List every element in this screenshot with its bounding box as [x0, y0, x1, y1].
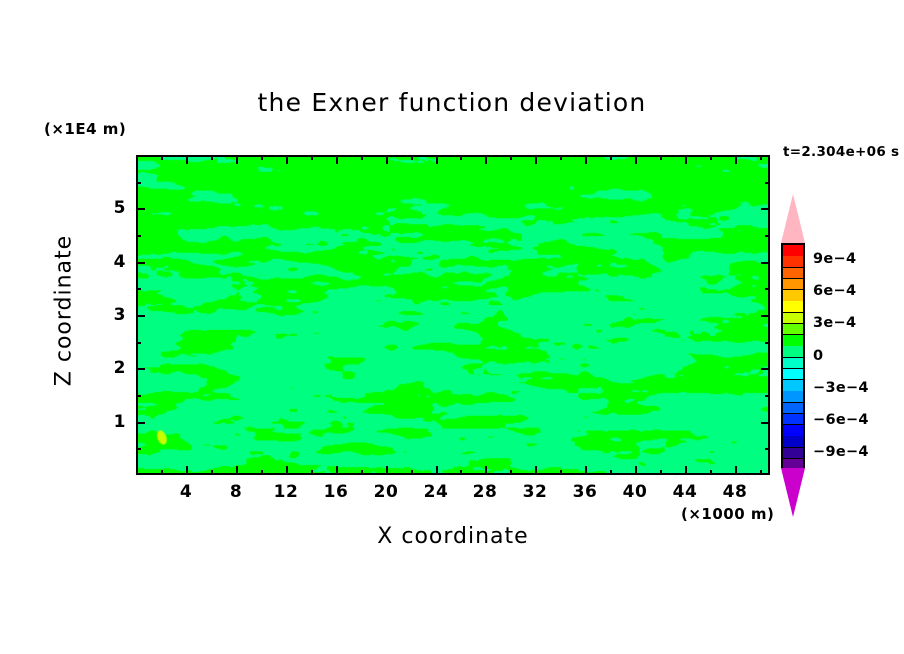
y-axis-minor-tick	[136, 448, 141, 450]
y-axis-tick	[136, 422, 145, 424]
y-axis-minor-tick	[765, 235, 770, 237]
x-axis-tick-label: 40	[623, 482, 648, 502]
x-axis-unit-label: (×1000 m)	[681, 505, 774, 523]
x-axis-minor-tick	[560, 155, 562, 160]
colorbar-band	[783, 245, 803, 257]
x-axis-minor-tick	[161, 155, 163, 160]
y-axis-minor-tick	[136, 342, 141, 344]
x-axis-tick-label: 20	[374, 482, 399, 502]
x-axis-minor-tick	[510, 470, 512, 475]
colorbar-band	[783, 335, 803, 347]
colorbar-band	[783, 358, 803, 370]
x-axis-minor-tick	[660, 470, 662, 475]
x-axis-tick	[685, 155, 687, 164]
x-axis-minor-tick	[211, 470, 213, 475]
y-axis-minor-tick	[765, 288, 770, 290]
y-axis-tick	[136, 315, 145, 317]
x-axis-tick	[386, 466, 388, 475]
y-axis-minor-tick	[765, 182, 770, 184]
x-axis-title: X coordinate	[236, 524, 670, 549]
y-axis-tick	[761, 368, 770, 370]
y-axis-tick-label: 1	[96, 412, 126, 432]
y-axis-tick	[761, 208, 770, 210]
colorbar-band	[783, 346, 803, 358]
y-axis-minor-tick	[765, 395, 770, 397]
x-axis-tick-label: 12	[274, 482, 299, 502]
x-axis-minor-tick	[211, 155, 213, 160]
colorbar-band	[783, 369, 803, 381]
colorbar-band	[783, 380, 803, 392]
y-axis-tick-label: 4	[96, 252, 126, 272]
colorbar-band	[783, 290, 803, 302]
x-axis-tick	[436, 466, 438, 475]
y-axis-tick	[761, 422, 770, 424]
x-axis-minor-tick	[510, 155, 512, 160]
x-axis-tick	[336, 466, 338, 475]
timestamp-annotation: t=2.304e+06 s	[783, 144, 899, 160]
colorbar: 9e−46e−43e−40−3e−4−6e−4−9e−4	[781, 243, 805, 468]
colorbar-band	[783, 324, 803, 336]
x-axis-tick	[485, 155, 487, 164]
x-axis-minor-tick	[760, 155, 762, 160]
colorbar-band	[783, 414, 803, 426]
x-axis-tick	[535, 155, 537, 164]
colorbar-under-arrow-icon	[781, 468, 805, 517]
x-axis-tick	[635, 155, 637, 164]
x-axis-tick	[485, 466, 487, 475]
contour-plot-area	[136, 155, 770, 475]
x-axis-minor-tick	[361, 155, 363, 160]
x-axis-tick	[236, 466, 238, 475]
y-axis-tick-label: 3	[96, 305, 126, 325]
x-axis-minor-tick	[311, 470, 313, 475]
y-axis-tick-label: 2	[96, 358, 126, 378]
x-axis-tick-label: 32	[523, 482, 548, 502]
x-axis-minor-tick	[460, 155, 462, 160]
y-axis-tick	[761, 315, 770, 317]
x-axis-minor-tick	[411, 470, 413, 475]
x-axis-minor-tick	[361, 470, 363, 475]
y-axis-tick	[136, 208, 145, 210]
colorbar-band	[783, 391, 803, 403]
colorbar-tick-label: 0	[813, 348, 823, 364]
x-axis-tick	[286, 155, 288, 164]
colorbar-band	[783, 436, 803, 448]
y-axis-minor-tick	[136, 235, 141, 237]
x-axis-minor-tick	[460, 470, 462, 475]
y-axis-minor-tick	[765, 342, 770, 344]
colorbar-band	[783, 268, 803, 280]
x-axis-minor-tick	[161, 470, 163, 475]
colorbar-band	[783, 279, 803, 291]
y-axis-minor-tick	[136, 395, 141, 397]
colorbar-band	[783, 256, 803, 268]
colorbar-tick-label: −3e−4	[813, 380, 869, 396]
colorbar-tick-label: 9e−4	[813, 251, 856, 267]
x-axis-minor-tick	[560, 470, 562, 475]
contour-field	[138, 157, 768, 473]
colorbar-tick-label: 3e−4	[813, 315, 856, 331]
y-axis-minor-tick	[136, 182, 141, 184]
x-axis-tick	[735, 466, 737, 475]
x-axis-tick	[236, 155, 238, 164]
y-axis-tick	[136, 368, 145, 370]
x-axis-tick	[186, 466, 188, 475]
x-axis-tick	[535, 466, 537, 475]
y-axis-tick	[136, 262, 145, 264]
colorbar-over-arrow-icon	[781, 194, 805, 243]
colorbar-band	[783, 313, 803, 325]
colorbar-tick-label: 6e−4	[813, 283, 856, 299]
x-axis-minor-tick	[311, 155, 313, 160]
x-axis-tick	[336, 155, 338, 164]
x-axis-minor-tick	[261, 155, 263, 160]
x-axis-tick	[635, 466, 637, 475]
colorbar-band	[783, 403, 803, 415]
y-axis-unit-label: (×1E4 m)	[44, 120, 126, 138]
x-axis-minor-tick	[261, 470, 263, 475]
x-axis-tick	[386, 155, 388, 164]
x-axis-minor-tick	[760, 470, 762, 475]
colorbar-bands	[781, 243, 805, 468]
colorbar-band	[783, 425, 803, 437]
y-axis-minor-tick	[136, 288, 141, 290]
colorbar-tick-label: −9e−4	[813, 444, 869, 460]
y-axis-title: Z coordinate	[52, 221, 77, 401]
colorbar-band	[783, 448, 803, 460]
page-title: the Exner function deviation	[0, 88, 904, 117]
x-axis-tick-label: 44	[673, 482, 698, 502]
x-axis-minor-tick	[710, 470, 712, 475]
colorbar-tick-label: −6e−4	[813, 412, 869, 428]
x-axis-minor-tick	[710, 155, 712, 160]
x-axis-tick-label: 16	[324, 482, 349, 502]
x-axis-tick-label: 24	[424, 482, 449, 502]
x-axis-tick-label: 48	[723, 482, 748, 502]
x-axis-tick	[685, 466, 687, 475]
x-axis-tick	[286, 466, 288, 475]
x-axis-tick	[735, 155, 737, 164]
x-axis-tick	[585, 466, 587, 475]
x-axis-tick	[186, 155, 188, 164]
x-axis-tick-label: 8	[230, 482, 242, 502]
x-axis-tick-label: 28	[473, 482, 498, 502]
y-axis-tick-label: 5	[96, 198, 126, 218]
x-axis-minor-tick	[610, 470, 612, 475]
colorbar-band	[783, 301, 803, 313]
x-axis-minor-tick	[610, 155, 612, 160]
x-axis-minor-tick	[660, 155, 662, 160]
x-axis-tick	[585, 155, 587, 164]
x-axis-tick	[436, 155, 438, 164]
y-axis-tick	[761, 262, 770, 264]
x-axis-tick-label: 36	[573, 482, 598, 502]
x-axis-tick-label: 4	[180, 482, 192, 502]
x-axis-minor-tick	[411, 155, 413, 160]
y-axis-minor-tick	[765, 448, 770, 450]
